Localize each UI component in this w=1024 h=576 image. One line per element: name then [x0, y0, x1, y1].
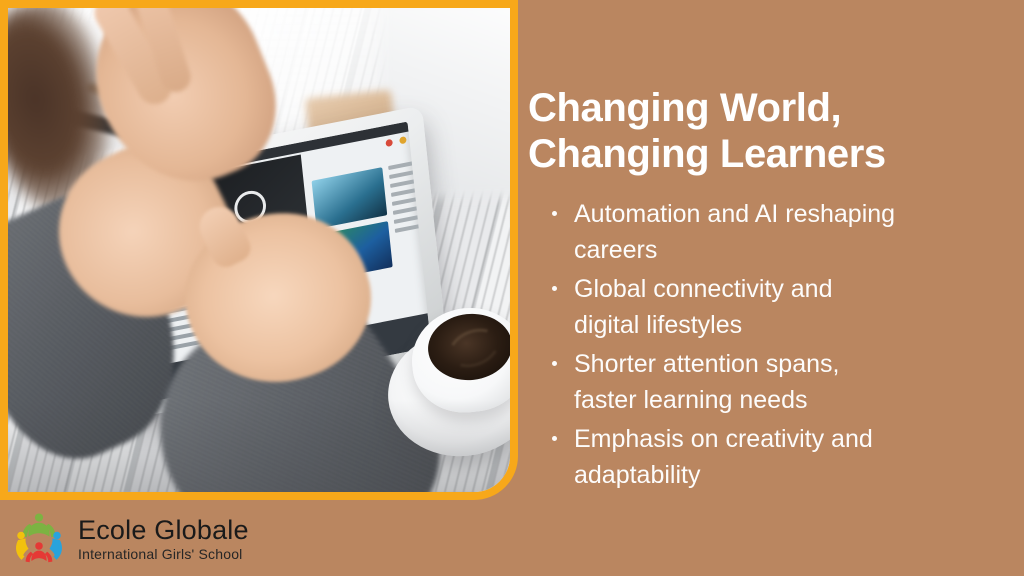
bullet-dot-icon — [552, 211, 557, 216]
list-item: Emphasis on creativity and adaptability — [548, 422, 904, 493]
logo-tagline: International Girls' School — [78, 547, 249, 561]
slide: Changing World, Changing Learners Automa… — [0, 0, 1024, 576]
photo-image — [8, 8, 510, 492]
page-title: Changing World, Changing Learners — [528, 86, 1008, 177]
list-item-label: Emphasis on creativity and adaptability — [574, 425, 873, 489]
list-item-label: Automation and AI reshaping careers — [574, 200, 895, 264]
bullet-list: Automation and AI reshaping careers Glob… — [528, 197, 1008, 493]
table-shadow — [8, 400, 510, 492]
bullet-dot-icon — [552, 286, 557, 291]
bullet-dot-icon — [552, 361, 557, 366]
logo-text: Ecole Globale International Girls' Schoo… — [78, 517, 249, 561]
list-item-label: Shorter attention spans, faster learning… — [574, 350, 839, 414]
ecole-globale-logo-icon — [10, 510, 68, 568]
text-content: Changing World, Changing Learners Automa… — [528, 86, 1008, 497]
logo-name: Ecole Globale — [78, 517, 249, 544]
list-item-label: Global connectivity and digital lifestyl… — [574, 275, 832, 339]
sidebar-text-block — [388, 156, 431, 238]
bullet-dot-icon — [552, 436, 557, 441]
list-item: Automation and AI reshaping careers — [548, 197, 904, 268]
list-item: Shorter attention spans, faster learning… — [548, 347, 904, 418]
photo-frame — [0, 0, 518, 500]
article-thumbnail-1 — [312, 167, 388, 229]
logo: Ecole Globale International Girls' Schoo… — [10, 510, 249, 568]
list-item: Global connectivity and digital lifestyl… — [548, 272, 904, 343]
